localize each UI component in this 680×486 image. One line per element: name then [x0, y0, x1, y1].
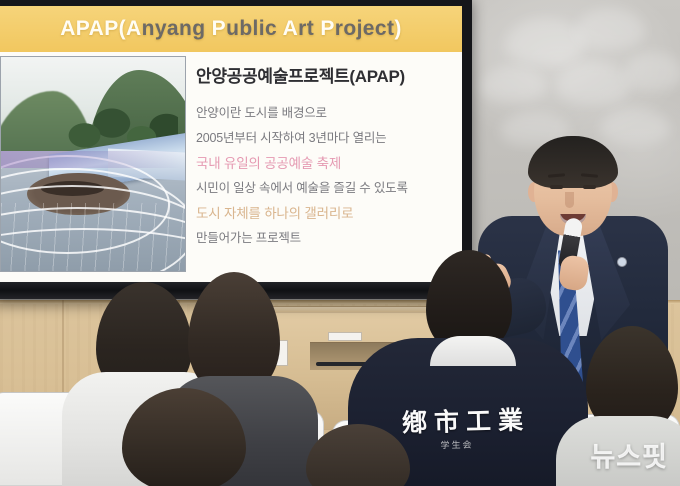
slide-title-part: P	[320, 17, 334, 40]
photo-purple-lighting	[1, 151, 185, 168]
presenter-hair	[528, 136, 618, 188]
slide-body-line: 만들어가는 프로젝트	[196, 226, 458, 251]
slide-text-block: 안양공공예술프로젝트(APAP) 안양이란 도시를 배경으로 2005년부터 시…	[196, 62, 458, 251]
slide-title-part: P	[212, 17, 226, 40]
slide-body-line: 시민이 일상 속에서 예술을 즐길 수 있도록	[196, 176, 458, 201]
slide-title-part: A	[283, 17, 299, 40]
slide-body-line: 안양이란 도시를 배경으로	[196, 101, 458, 126]
slide-body-line-highlight: 도시 자체를 하나의 갤러리로	[196, 201, 458, 226]
presenter-eye-right	[583, 185, 596, 189]
slide-title-part: ublic	[226, 17, 282, 40]
photo-paving-lines	[1, 203, 185, 271]
presenter-eye-left	[550, 185, 563, 189]
presenter-lapel-pin	[618, 258, 626, 266]
wall-reflection	[624, 52, 680, 90]
wall-reflection	[575, 8, 645, 48]
slide-body-line-highlight: 국내 유일의 공공예술 축제	[196, 151, 458, 176]
slide-title: APAP(Anyang Public Art Project)	[60, 17, 402, 41]
presentation-photo-scene: APAP(Anyang Public Art Project) 안양공공예술프로…	[0, 0, 680, 486]
slide-title-part: A	[126, 17, 142, 40]
slide-title-part: )	[394, 17, 401, 40]
slide-title-part: APAP(	[60, 17, 126, 40]
slide-photo-anyang-art-park	[0, 56, 186, 272]
slide-title-band: APAP(Anyang Public Art Project)	[0, 6, 462, 52]
wall-reflection	[556, 62, 630, 104]
presentation-slide: APAP(Anyang Public Art Project) 안양공공예술프로…	[0, 6, 462, 282]
wall-reflection	[480, 66, 546, 102]
wall-reflection	[505, 18, 585, 64]
console-label-tag	[328, 332, 362, 341]
presenter-nose	[565, 192, 574, 208]
slide-title-part: roject	[335, 17, 395, 40]
slide-title-part: nyang	[142, 17, 212, 40]
slide-body-line: 2005년부터 시작하여 3년마다 열리는	[196, 126, 458, 151]
jacket-kanji-text: 鄕市工業	[378, 400, 555, 441]
slide-heading: 안양공공예술프로젝트(APAP)	[196, 62, 458, 87]
slide-title-part: rt	[298, 17, 320, 40]
